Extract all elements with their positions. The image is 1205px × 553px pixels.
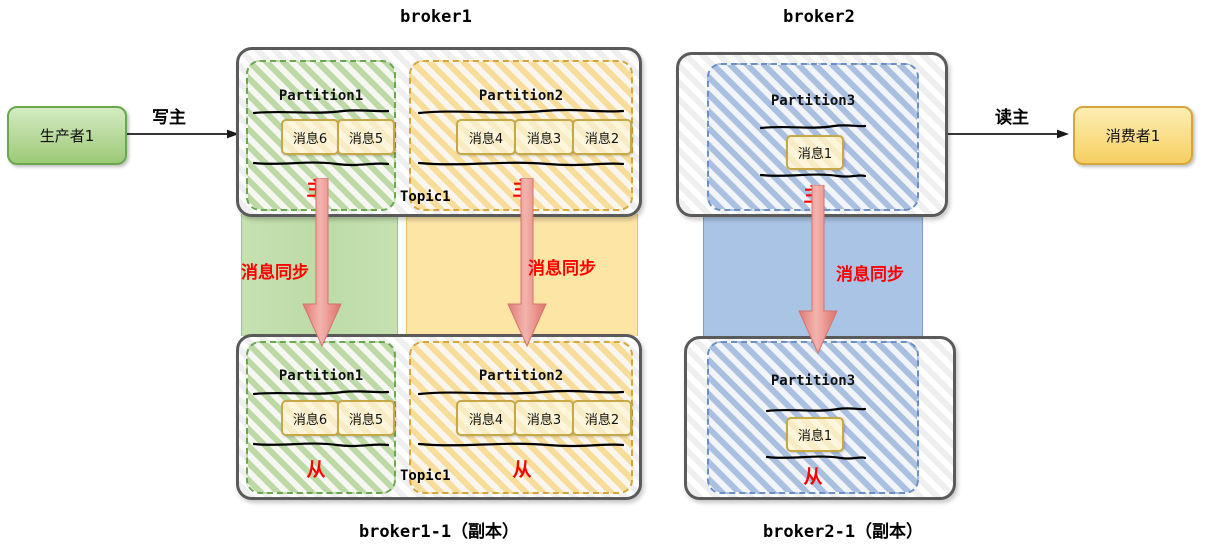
broker1-1-partition1-label: Partition1 [248,368,394,384]
broker2-1-partition3-rule-top [766,406,866,416]
read-connector-arrow [948,126,1070,142]
message-chip[interactable]: 消息6 [281,119,339,155]
write-connector-label: 写主 [152,103,186,128]
message-chip[interactable]: 消息5 [337,400,395,436]
broker1-partition2-label: Partition2 [411,88,631,104]
broker2-partition3-messages: 消息1 [786,135,844,166]
broker1-partition2-rule-top [418,108,624,118]
broker2-1-caption: broker2-1（副本） [693,517,993,542]
broker1-partition1-rule-bottom [253,159,389,169]
broker1-title: broker1 [336,7,536,27]
message-chip[interactable]: 消息2 [572,119,632,155]
broker2-partition3-label: Partition3 [709,93,917,109]
message-chip[interactable]: 消息1 [786,135,844,170]
message-chip[interactable]: 消息5 [337,119,395,155]
broker1-1-partition1-rule-bottom [253,440,389,450]
sync-label-partition2: 消息同步 [528,254,596,279]
diagram-canvas: broker1 Partition1 消息6 消息5 主 Partition2 … [0,0,1205,553]
broker1-partition1-rule-top [253,108,389,118]
message-chip[interactable]: 消息3 [514,119,574,155]
message-chip[interactable]: 消息4 [456,119,516,155]
producer-label: 生产者1 [40,125,95,146]
message-chip[interactable]: 消息2 [572,400,632,436]
broker2-title: broker2 [719,7,919,27]
broker1-partition1-label: Partition1 [248,88,394,104]
consumer-node[interactable]: 消费者1 [1073,106,1193,165]
sync-label-partition3: 消息同步 [836,260,904,285]
broker1-1-partition2-messages: 消息4 消息3 消息2 [456,400,632,432]
broker1-partition2-messages: 消息4 消息3 消息2 [456,119,632,151]
broker1-1-partition1-rule-top [253,389,389,399]
broker2-1-partition3-label: Partition3 [709,373,917,389]
broker2-partition3-rule-top [760,123,866,133]
broker1-1-partition2-role: 从 [502,455,542,482]
broker1-1-partition2-label: Partition2 [411,368,631,384]
broker2-1-partition3-role: 从 [793,462,833,489]
message-chip[interactable]: 消息4 [456,400,516,436]
read-connector-label: 读主 [995,103,1029,128]
broker2-1-partition3-messages: 消息1 [786,417,844,448]
broker1-1-caption: broker1-1（副本） [289,517,589,542]
broker1-1-partition1-role: 从 [296,455,336,482]
write-connector-arrow [126,126,240,142]
broker1-1-partition1-messages: 消息6 消息5 [281,400,395,432]
sync-label-partition1: 消息同步 [241,258,309,283]
consumer-label: 消费者1 [1106,125,1161,146]
broker1-partition2-rule-bottom [418,159,624,169]
message-chip[interactable]: 消息6 [281,400,339,436]
sync-arrow-partition3-icon [796,185,840,355]
broker1-topic-label: Topic1 [400,189,451,205]
broker1-partition1-messages: 消息6 消息5 [281,119,395,151]
broker1-1-topic-label: Topic1 [400,468,451,484]
broker1-1-partition2-rule-bottom [418,440,624,450]
message-chip[interactable]: 消息1 [786,417,844,452]
producer-node[interactable]: 生产者1 [7,106,127,165]
broker1-1-partition2-rule-top [418,389,624,399]
message-chip[interactable]: 消息3 [514,400,574,436]
